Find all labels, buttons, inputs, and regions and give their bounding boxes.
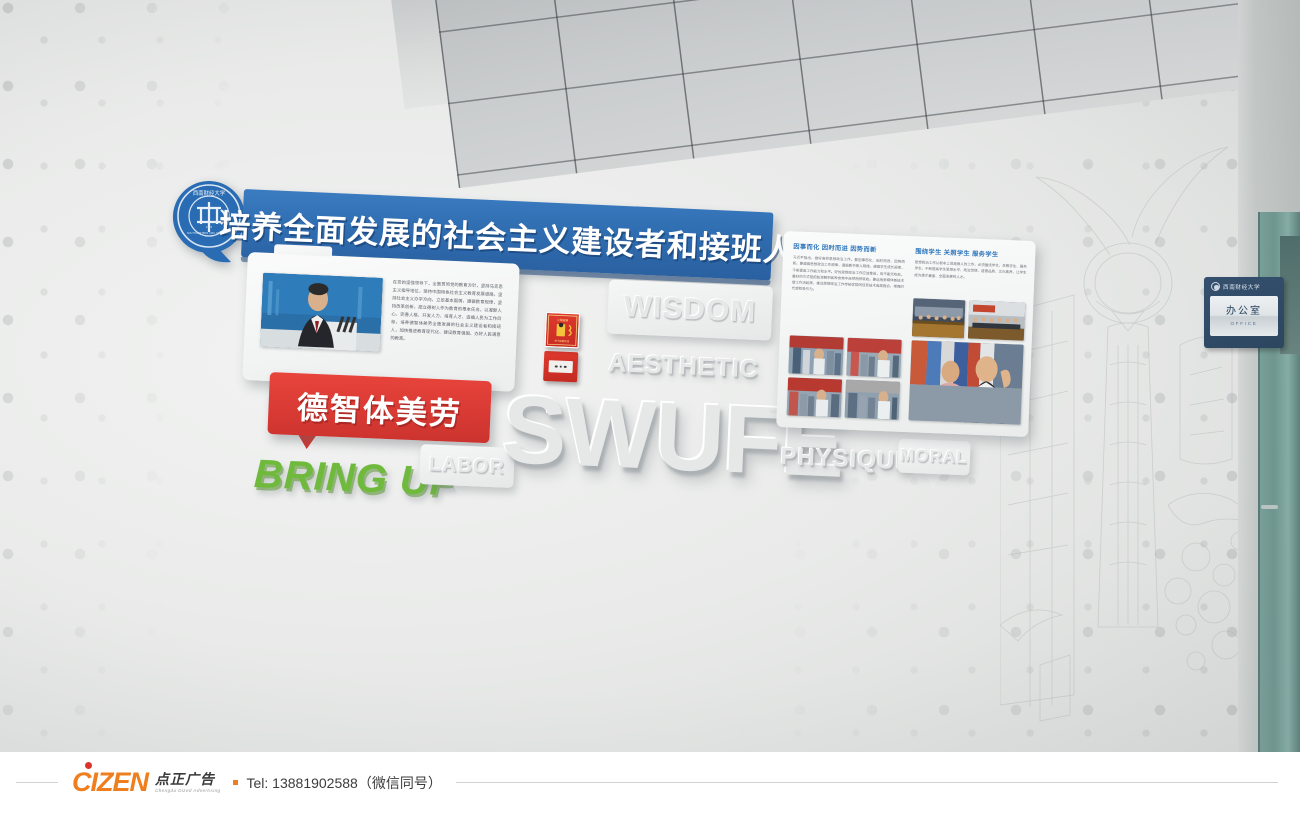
handshake-photo-4 — [845, 380, 900, 420]
labor-tag-text: LABOR — [428, 453, 505, 479]
call-point-dot — [559, 365, 562, 368]
moral-tag-text: MORAL — [900, 446, 968, 469]
logo-dot-icon — [85, 762, 92, 769]
footer-brand: CIZEN 点正广告 Chengdu Dized Advertising — [72, 767, 221, 798]
fire-alarm-assembly: 火警报警 按下报警按钮 — [543, 312, 580, 382]
speaker-podium-photo — [260, 273, 383, 352]
moral-tag: MORAL — [897, 439, 970, 476]
svg-text:火警报警: 火警报警 — [557, 318, 569, 322]
right-content-panel: 因事而化 因时而进 因势而新 习近平指出，做好高校思想政治工作，要因事而化、因时… — [776, 231, 1036, 437]
fire-alarm-instruction-sign: 火警报警 按下报警按钮 — [545, 312, 580, 348]
footer-rule-right — [456, 782, 1278, 783]
handshake-photo-1 — [788, 335, 843, 375]
footer-telephone: Tel: 13881902588（微信同号） — [247, 773, 442, 793]
state-visit-photo — [909, 340, 1024, 424]
column-1-heading: 因事而化 因时而进 因势而新 — [793, 241, 905, 254]
footer-bar: CIZEN 点正广告 Chengdu Dized Advertising Tel… — [0, 752, 1300, 813]
labor-tag-tail — [452, 484, 471, 501]
auditorium-photo — [912, 298, 965, 338]
company-name-en: Chengdu Dized Advertising — [155, 789, 221, 794]
wisdom-tag-text: WISDOM — [623, 290, 757, 330]
column-1-body: 习近平指出，做好高校思想政治工作，要因事而化、因时而进、因势而新。要遵循思想政治… — [792, 254, 905, 296]
footer-separator-icon — [233, 780, 238, 785]
right-panel-column-2: 围绕学生 关照学生 服务学生 思想政治工作从根本上说是做人的工作，必须围绕学生、… — [914, 246, 1027, 282]
handshake-photo-2 — [846, 338, 901, 378]
red-bubble-text: 德智体美劳 — [296, 382, 463, 434]
call-point-dot — [564, 366, 567, 369]
cizen-logo: CIZEN — [72, 767, 148, 798]
aesthetic-lettering: AESTHETIC — [608, 349, 760, 385]
svg-text:按下报警按钮: 按下报警按钮 — [554, 339, 569, 344]
svg-text:1925: 1925 — [206, 225, 213, 229]
culture-wall-graphics: 西南财经大学 SOUTHWESTERN UNIV OF FINANCE 1925… — [0, 0, 1300, 813]
column-2-heading: 围绕学生 关照学生 服务学生 — [915, 246, 1027, 259]
handshake-photo-3 — [787, 377, 842, 417]
call-point-dot — [555, 365, 558, 368]
wisdom-tag: WISDOM — [607, 279, 773, 340]
right-panel-column-1: 因事而化 因时而进 因势而新 习近平指出，做好高校思想政治工作，要因事而化、因时… — [792, 241, 906, 296]
left-content-panel: 在党的坚强领导下，全面贯彻党的教育方针，坚持马克思主义指导地位，坚持中国特色社会… — [242, 252, 519, 392]
physique-lettering: PHYSIQUE — [780, 443, 913, 477]
manual-call-point[interactable] — [543, 351, 578, 382]
footer-rule-left — [16, 782, 58, 783]
company-name-cn: 点正广告 — [155, 772, 221, 786]
red-bubble: 德智体美劳 — [267, 372, 491, 443]
call-point-window — [548, 360, 572, 373]
group-photo — [968, 300, 1025, 340]
footer-company: 点正广告 Chengdu Dized Advertising — [155, 772, 221, 794]
svg-text:西南财经大学: 西南财经大学 — [193, 189, 226, 197]
left-panel-body-text: 在党的坚强领导下，全面贯彻党的教育方针，坚持马克思主义指导地位，坚持中国特色社会… — [389, 278, 503, 369]
column-2-body: 思想政治工作从根本上说是做人的工作，必须围绕学生、关照学生、服务学生，不断提高学… — [914, 259, 1027, 282]
screenshot-root: 西南财经大学 办公室 OFFICE 西南财经大学 SOUTHWESTERN UN… — [0, 0, 1300, 813]
